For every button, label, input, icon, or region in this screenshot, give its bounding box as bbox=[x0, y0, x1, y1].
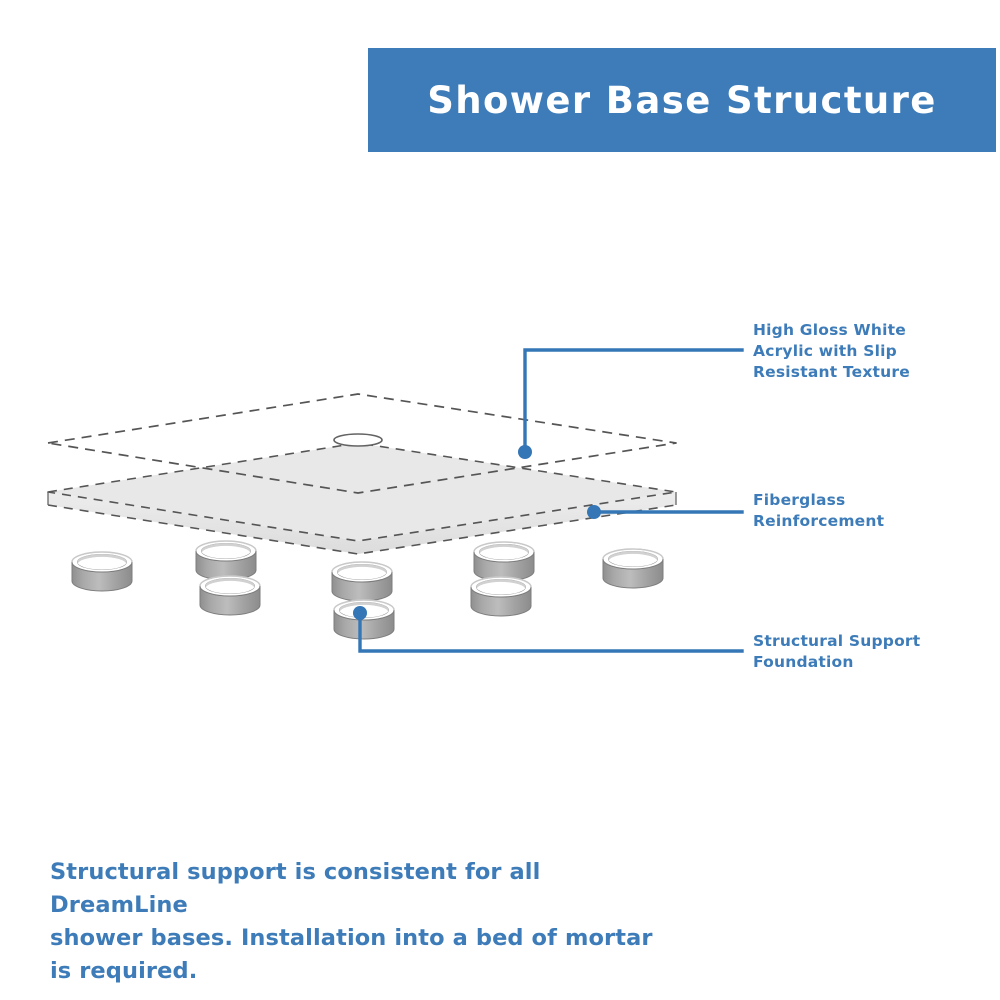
support-ring-2 bbox=[196, 541, 256, 580]
support-ring-4 bbox=[332, 562, 392, 601]
leader-line-structural bbox=[360, 613, 742, 651]
anchor-dot-structural bbox=[353, 606, 367, 620]
support-ring-3 bbox=[200, 576, 260, 615]
callout-label-structural-support-foundation: Structural Support Foundation bbox=[753, 631, 963, 673]
support-ring-6 bbox=[474, 542, 534, 581]
leader-line-acrylic bbox=[525, 350, 742, 452]
drain-opening bbox=[334, 434, 382, 446]
support-ring-group bbox=[72, 541, 663, 639]
support-ring-7 bbox=[471, 577, 531, 616]
shower-base-structure-page: Shower Base Structure bbox=[0, 0, 1000, 1000]
fiberglass-reinforcement-slab bbox=[48, 443, 676, 554]
callout-label-high-gloss-white-acrylic: High Gloss White Acrylic with Slip Resis… bbox=[753, 320, 953, 383]
anchor-dot-acrylic bbox=[518, 445, 532, 459]
callout-label-fiberglass-reinforcement: Fiberglass Reinforcement bbox=[753, 490, 953, 532]
support-ring-5 bbox=[334, 600, 394, 639]
bottom-caption: Structural support is consistent for all… bbox=[50, 856, 670, 988]
anchor-dot-fiberglass bbox=[587, 505, 601, 519]
support-ring-8 bbox=[603, 549, 663, 588]
support-ring-1 bbox=[72, 552, 132, 591]
